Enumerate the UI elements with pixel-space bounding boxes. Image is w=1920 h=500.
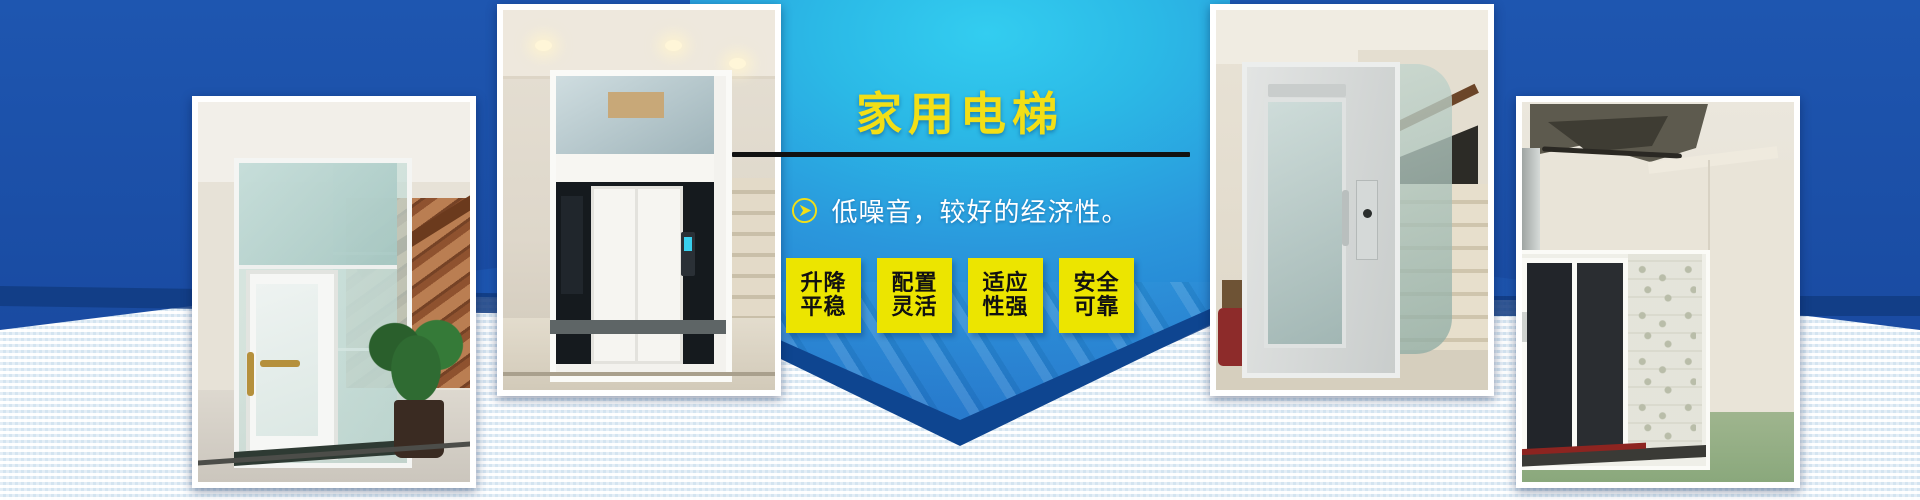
photo-frame-3 [1210,4,1494,396]
feature-badge-4-line1: 安全 [1073,272,1119,296]
feature-badge-3-line2: 性强 [982,296,1028,320]
photo-frame-4 [1516,96,1800,488]
photo-elevator-installation [1522,102,1794,482]
feature-badge-3-line1: 适应 [982,272,1028,296]
feature-badge-2[interactable]: 配置 灵活 [877,258,952,333]
page-title: 家用电梯 [690,78,1230,144]
title-divider [732,152,1190,157]
photo-steel-glass-elevator-stairs [1216,10,1488,390]
subtitle-text: 低噪音，较好的经济性。 [831,192,1128,229]
feature-badge-2-line2: 灵活 [891,296,937,320]
feature-badge-4-line2: 可靠 [1073,296,1119,320]
subtitle-row: 低噪音，较好的经济性。 [690,192,1230,229]
photo-glass-elevator-staircase [198,102,470,482]
feature-badge-1-line2: 平稳 [800,296,846,320]
feature-badge-3[interactable]: 适应 性强 [968,258,1043,333]
circle-arrow-right-icon [791,197,818,224]
feature-badge-2-line1: 配置 [891,272,937,296]
home-elevator-banner: 家用电梯 低噪音，较好的经济性。 升降 平稳 配置 灵活 适应 性强 [0,0,1920,500]
photo-frame-1 [192,96,476,488]
feature-badge-4[interactable]: 安全 可靠 [1059,258,1134,333]
feature-badge-1-line1: 升降 [800,272,846,296]
feature-badge-list: 升降 平稳 配置 灵活 适应 性强 安全 可靠 [690,258,1230,333]
banner-text-block: 家用电梯 低噪音，较好的经济性。 升降 平稳 配置 灵活 适应 性强 [690,0,1230,420]
feature-badge-1[interactable]: 升降 平稳 [786,258,861,333]
